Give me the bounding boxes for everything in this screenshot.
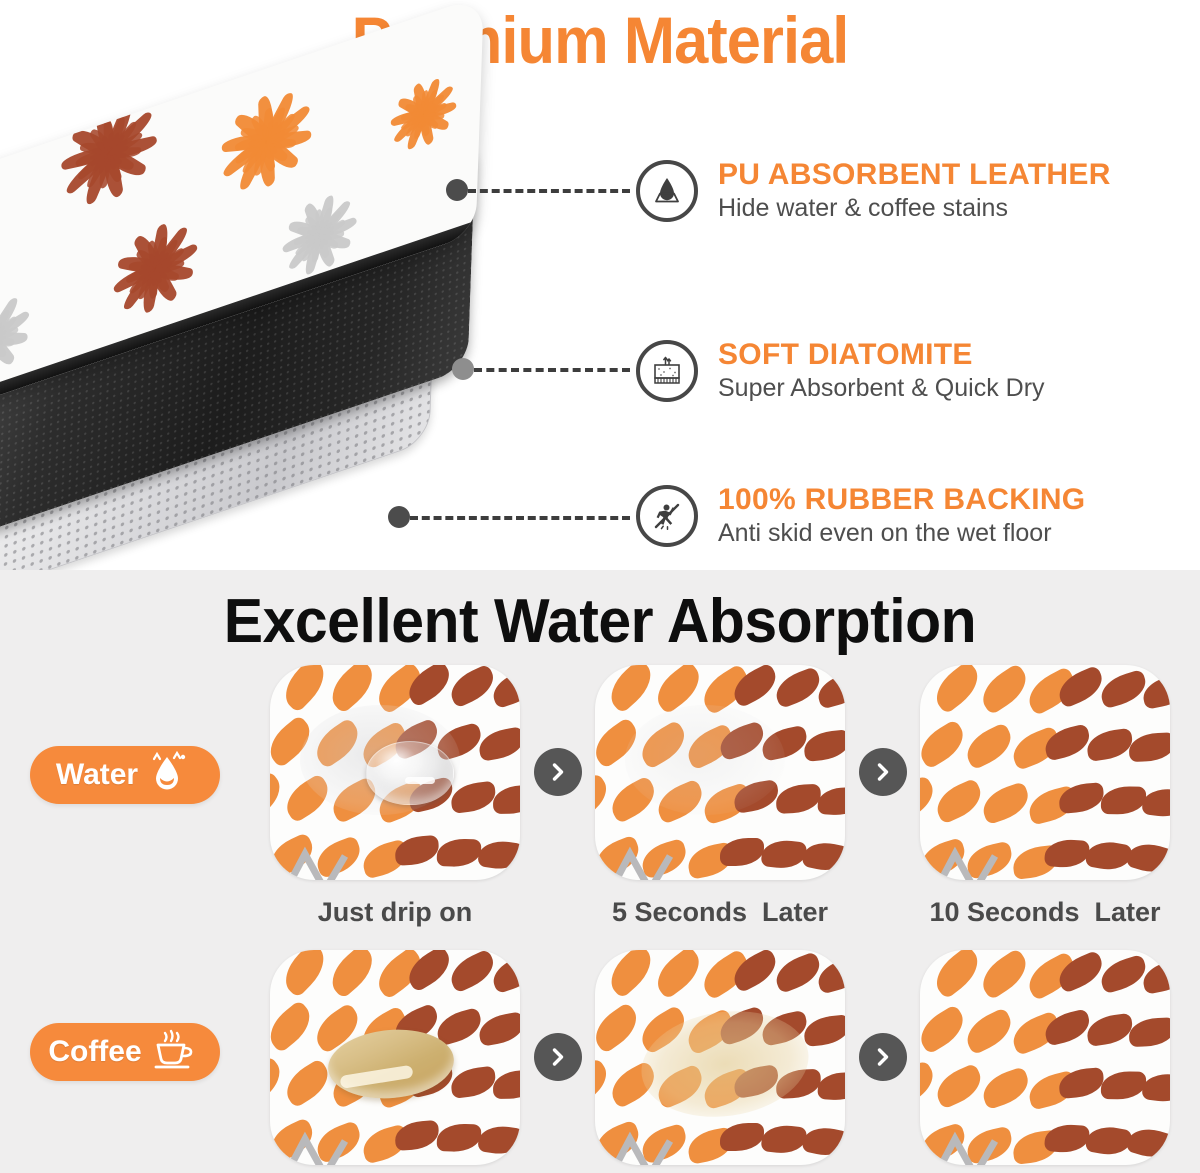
badge-water: Water	[30, 746, 220, 804]
layered-mat-illustration	[0, 84, 580, 564]
petal	[276, 665, 333, 713]
petal	[270, 770, 288, 823]
tile-coffee-5-seconds-later	[595, 950, 845, 1165]
feature-soft-diatomite: SOFT DIATOMITE Super Absorbent & Quick D…	[636, 325, 1196, 417]
petal	[493, 1070, 520, 1099]
caption-water-stage-2: 5 Seconds Later	[570, 896, 870, 928]
dahlia-bloom	[219, 72, 314, 196]
petal	[920, 665, 938, 713]
dahlia-bloom	[390, 65, 458, 154]
water-droplet-on-mat-icon	[636, 160, 698, 222]
arrow-coffee-2	[859, 1033, 907, 1081]
petal	[595, 950, 611, 998]
petal	[279, 1058, 335, 1109]
dahlia-bloom	[113, 205, 200, 319]
petal	[595, 665, 611, 713]
badge-label: Coffee	[48, 1035, 141, 1069]
water-drop-splash-icon	[146, 751, 188, 800]
steaming-coffee-cup-icon	[150, 1027, 196, 1078]
feature-text-block: PU ABSORBENT LEATHER Hide water & coffee…	[718, 158, 1111, 224]
water-absorption-heading: Excellent Water Absorption	[30, 586, 1170, 658]
petal	[720, 1123, 764, 1151]
petal	[920, 718, 971, 769]
arrow-water-1	[534, 748, 582, 796]
petal	[978, 1066, 1033, 1110]
petal	[1125, 1123, 1170, 1162]
callout-line-rubber	[410, 516, 630, 520]
chevron-right-icon	[872, 761, 894, 783]
petal	[931, 777, 987, 824]
caption-water-stage-1: Just drip on	[245, 896, 545, 928]
feature-subtitle: Anti skid even on the wet floor	[718, 517, 1085, 549]
feature-title: SOFT DIATOMITE	[718, 338, 1045, 372]
petal	[445, 665, 499, 708]
petal	[1044, 1123, 1090, 1154]
feature-rubber-backing: 100% RUBBER BACKING Anti skid even on th…	[636, 470, 1196, 562]
petal	[595, 772, 614, 823]
petal	[775, 783, 821, 813]
tile-coffee-10-seconds-later	[920, 950, 1170, 1165]
petal	[920, 950, 938, 998]
tile-water-just-drip-on	[270, 665, 520, 880]
petal	[437, 838, 482, 868]
tile-water-5-seconds-later	[595, 665, 845, 880]
water-sheen-faint	[625, 705, 785, 815]
petal	[975, 950, 1034, 1000]
petal	[803, 729, 845, 762]
petal	[960, 1007, 1017, 1055]
petal	[814, 955, 845, 994]
petal	[276, 950, 333, 998]
callout-dot-leather	[446, 179, 468, 201]
petal	[488, 667, 520, 709]
petal	[960, 722, 1017, 770]
caption-water-stage-3: 10 Seconds Later	[895, 896, 1195, 928]
chevron-right-icon	[547, 1046, 569, 1068]
premium-material-section: Premium Material PU ABSORBENT LEATHER Hi…	[0, 0, 1200, 570]
petal	[1097, 668, 1150, 709]
water-absorption-section: Excellent Water Absorption Water Coffee	[0, 570, 1200, 1173]
petal	[493, 785, 520, 814]
petal	[394, 1119, 440, 1150]
petal	[975, 665, 1034, 715]
petal	[978, 781, 1033, 825]
petal	[814, 670, 845, 709]
petal	[595, 999, 597, 1053]
feature-title: 100% RUBBER BACKING	[718, 483, 1085, 517]
petal	[801, 1123, 845, 1160]
petal	[477, 726, 520, 762]
petal	[1085, 838, 1133, 873]
petal	[928, 665, 986, 714]
petal	[920, 1003, 971, 1054]
petal	[649, 950, 707, 999]
water-droplet	[366, 741, 454, 805]
petal	[771, 951, 825, 994]
petal	[803, 1014, 845, 1047]
callout-line-leather	[468, 189, 630, 193]
petal	[595, 1057, 614, 1108]
feature-subtitle: Hide water & coffee stains	[718, 192, 1111, 224]
mat-surface-pattern	[920, 665, 1170, 880]
petal	[817, 1071, 845, 1101]
petal	[449, 1065, 497, 1098]
callout-dot-diatomite	[452, 358, 474, 380]
petal	[323, 950, 381, 999]
dahlia-bloom	[60, 80, 159, 210]
petal	[477, 838, 520, 872]
petal	[1101, 786, 1146, 815]
petal	[270, 997, 271, 1053]
petal	[928, 950, 986, 999]
petal	[1085, 1123, 1133, 1158]
petal	[477, 1011, 520, 1047]
petal	[595, 714, 597, 768]
petal	[761, 1123, 808, 1155]
callout-line-diatomite	[474, 368, 630, 372]
arrow-water-2	[859, 748, 907, 796]
petal	[602, 950, 660, 999]
feature-subtitle: Super Absorbent & Quick Dry	[718, 372, 1045, 404]
petal	[771, 666, 825, 709]
petal	[1097, 953, 1150, 994]
petal	[270, 665, 284, 712]
petal	[761, 838, 808, 870]
petal	[1101, 1071, 1146, 1100]
badge-label: Water	[56, 758, 138, 792]
petal	[1141, 1071, 1170, 1104]
petal	[1125, 838, 1170, 877]
petal	[394, 834, 440, 865]
petal	[920, 1059, 940, 1108]
petal	[270, 950, 284, 997]
badge-coffee: Coffee	[30, 1023, 220, 1081]
petal	[720, 838, 764, 866]
petal	[1085, 727, 1134, 761]
dahlia-bloom	[0, 279, 32, 384]
petal	[602, 665, 660, 714]
petal	[595, 1001, 645, 1054]
petal	[1129, 732, 1170, 762]
diatomite-block-evaporation-icon	[636, 340, 698, 402]
feature-title: PU ABSORBENT LEATHER	[718, 158, 1111, 192]
feature-text-block: 100% RUBBER BACKING Anti skid even on th…	[718, 483, 1085, 549]
petal	[437, 1123, 482, 1153]
no-slipping-person-icon	[636, 485, 698, 547]
chevron-right-icon	[872, 1046, 894, 1068]
petal	[477, 1123, 520, 1157]
petal	[270, 1055, 288, 1108]
tile-coffee-just-drip-on	[270, 950, 520, 1165]
petal	[1044, 838, 1090, 869]
mat-surface-pattern	[920, 950, 1170, 1165]
petal	[1141, 786, 1170, 819]
petal	[449, 780, 497, 813]
callout-dot-rubber	[388, 506, 410, 528]
petal	[801, 838, 845, 875]
petal	[1085, 1012, 1134, 1046]
premium-material-heading: Premium Material	[42, 2, 1158, 78]
tile-water-10-seconds-later	[920, 665, 1170, 880]
petal	[931, 1062, 987, 1109]
petal	[920, 774, 940, 823]
feature-pu-absorbent-leather: PU ABSORBENT LEATHER Hide water & coffee…	[636, 145, 1196, 237]
petal	[817, 786, 845, 816]
arrow-coffee-1	[534, 1033, 582, 1081]
petal	[270, 712, 271, 768]
chevron-right-icon	[547, 761, 569, 783]
petal	[1129, 1017, 1170, 1047]
feature-text-block: SOFT DIATOMITE Super Absorbent & Quick D…	[718, 338, 1045, 404]
petal	[488, 952, 520, 994]
petal	[270, 999, 319, 1053]
petal	[445, 950, 499, 993]
